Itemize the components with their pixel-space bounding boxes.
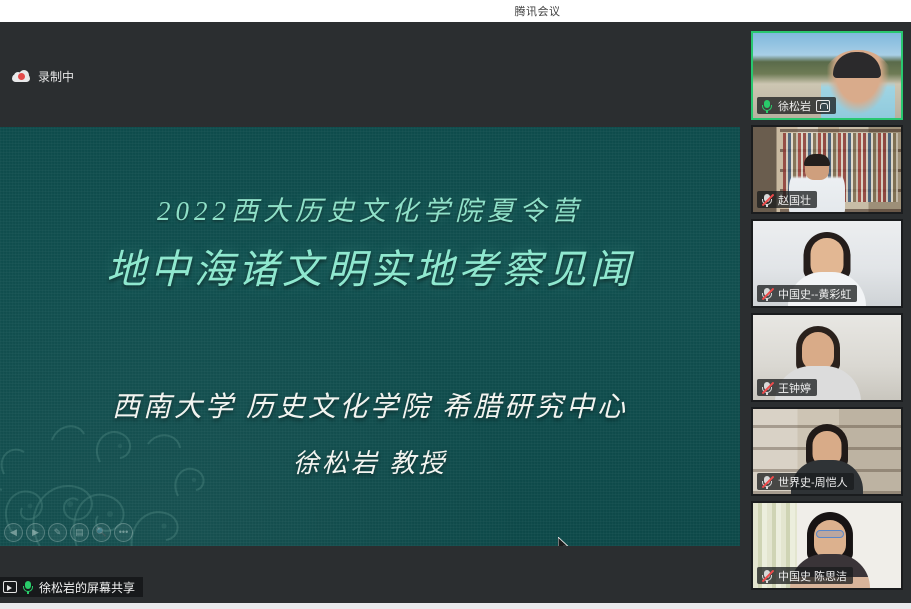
sharing-screen-icon bbox=[816, 100, 830, 112]
previous-slide-icon[interactable]: ◀ bbox=[4, 523, 23, 542]
slide-subtitle-line-1: 西南大学 历史文化学院 希腊研究中心 bbox=[0, 385, 740, 425]
slide-title-line-1: 2022西大历史文化学院夏令营 bbox=[0, 189, 740, 228]
screen-share-icon bbox=[3, 581, 17, 593]
ppt-slideshow-toolbar[interactable]: ◀ ▶ ✎ ▤ 🔍 ••• bbox=[4, 523, 133, 542]
participant-name: 世界史-周恺人 bbox=[778, 474, 848, 490]
slide-title-line-2: 地中海诸文明实地考察见闻 bbox=[0, 237, 740, 295]
microphone-on-icon bbox=[761, 99, 773, 113]
microphone-muted-icon bbox=[761, 569, 773, 583]
microphone-muted-icon bbox=[761, 193, 773, 207]
screen-share-label: 徐松岩的屏幕共享 bbox=[39, 579, 135, 596]
participant-nameplate: 中国史 陈思洁 bbox=[757, 567, 853, 584]
participant-tile-3[interactable]: 王钟婷 bbox=[751, 313, 903, 402]
pen-annotate-icon[interactable]: ✎ bbox=[48, 523, 67, 542]
participant-name: 中国史--黄彩虹 bbox=[778, 286, 851, 302]
presentation-slide: 2022西大历史文化学院夏令营 地中海诸文明实地考察见闻 西南大学 历史文化学院… bbox=[0, 127, 740, 546]
participant-name: 赵国壮 bbox=[778, 192, 811, 208]
app-title: 腾讯会议 bbox=[515, 3, 561, 19]
participant-filmstrip[interactable]: 徐松岩 赵国壮 中国史--黄彩虹 bbox=[740, 22, 911, 603]
slide-subtitle-line-2: 徐松岩 教授 bbox=[0, 443, 740, 480]
recording-indicator: 录制中 bbox=[12, 66, 74, 86]
participant-nameplate: 世界史-周恺人 bbox=[757, 473, 854, 490]
participant-tile-4[interactable]: 世界史-周恺人 bbox=[751, 407, 903, 496]
tencent-meeting-window: 腾讯会议 录制中 bbox=[0, 0, 911, 609]
microphone-muted-icon bbox=[761, 475, 773, 489]
slide-subtitle-block: 西南大学 历史文化学院 希腊研究中心 徐松岩 教授 bbox=[0, 385, 740, 480]
window-title-bar: 腾讯会议 bbox=[0, 0, 911, 22]
participant-nameplate: 徐松岩 bbox=[757, 97, 836, 114]
next-slide-icon[interactable]: ▶ bbox=[26, 523, 45, 542]
os-taskbar[interactable] bbox=[0, 603, 911, 609]
participant-tile-1[interactable]: 赵国壮 bbox=[751, 125, 903, 214]
participant-name: 王钟婷 bbox=[778, 380, 811, 396]
recording-label: 录制中 bbox=[38, 68, 74, 85]
participant-tile-0[interactable]: 徐松岩 bbox=[751, 31, 903, 120]
shared-screen-area[interactable]: 2022西大历史文化学院夏令营 地中海诸文明实地考察见闻 西南大学 历史文化学院… bbox=[0, 127, 740, 546]
more-options-icon[interactable]: ••• bbox=[114, 523, 133, 542]
participant-tile-2[interactable]: 中国史--黄彩虹 bbox=[751, 219, 903, 308]
microphone-muted-icon bbox=[761, 381, 773, 395]
participant-nameplate: 中国史--黄彩虹 bbox=[757, 285, 857, 302]
screen-share-status-bar: 徐松岩的屏幕共享 bbox=[0, 577, 143, 597]
participant-name: 徐松岩 bbox=[778, 98, 811, 114]
all-slides-icon[interactable]: ▤ bbox=[70, 523, 89, 542]
participant-nameplate: 王钟婷 bbox=[757, 379, 817, 396]
participant-nameplate: 赵国壮 bbox=[757, 191, 817, 208]
slide-title-block: 2022西大历史文化学院夏令营 地中海诸文明实地考察见闻 bbox=[0, 189, 740, 295]
cloud-record-icon bbox=[12, 70, 30, 82]
microphone-on-icon bbox=[22, 580, 34, 594]
participant-name: 中国史 陈思洁 bbox=[778, 568, 847, 584]
participant-tile-5[interactable]: 中国史 陈思洁 bbox=[751, 501, 903, 590]
microphone-muted-icon bbox=[761, 287, 773, 301]
zoom-slide-icon[interactable]: 🔍 bbox=[92, 523, 111, 542]
